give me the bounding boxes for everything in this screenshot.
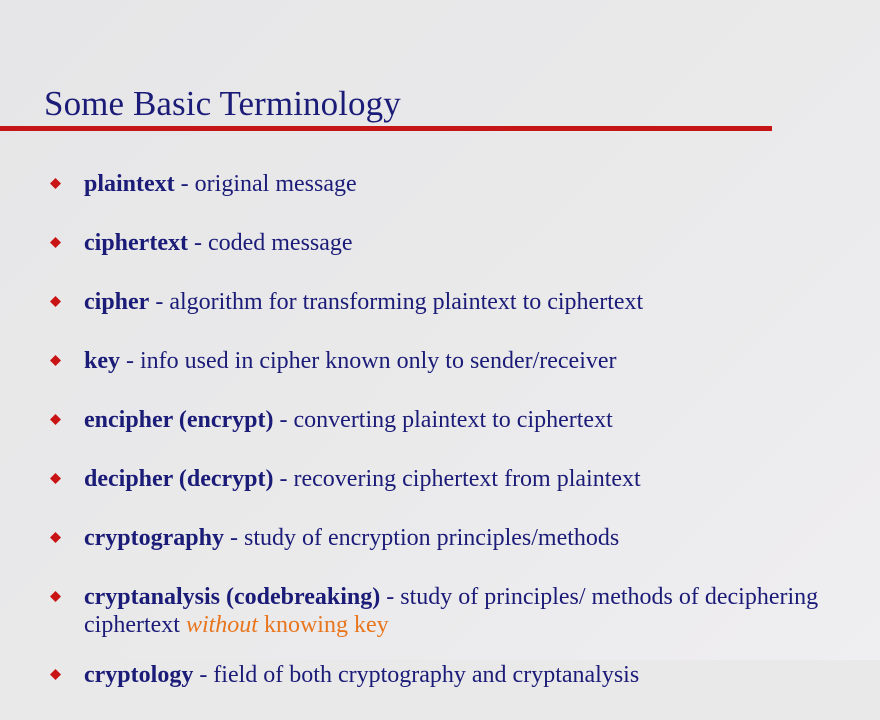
bullet-emphasis-italic: without: [186, 612, 258, 638]
diamond-bullet-icon: [50, 532, 61, 543]
list-item: key - info used in cipher known only to …: [0, 347, 880, 396]
bullet-text: cryptanalysis (codebreaking) - study of …: [84, 583, 880, 639]
list-item: plaintext - original message: [0, 170, 880, 219]
bullet-term: cryptography: [84, 525, 224, 551]
diamond-bullet-icon: [50, 237, 61, 248]
bullet-definition: - recovering ciphertext from plaintext: [274, 466, 641, 492]
bullet-definition: - study of encryption principles/methods: [224, 525, 619, 551]
bullet-definition: - info used in cipher known only to send…: [120, 348, 617, 374]
bullet-text: cryptography - study of encryption princ…: [84, 524, 880, 552]
slide-canvas: Some Basic Terminology plaintext - origi…: [0, 0, 880, 660]
list-item: decipher (decrypt) - recovering cipherte…: [0, 465, 880, 514]
bullet-term: plaintext: [84, 171, 175, 197]
diamond-bullet-icon: [50, 669, 61, 680]
title-divider-rule: [0, 126, 772, 131]
bullet-text: plaintext - original message: [84, 170, 880, 198]
bullet-term: cryptology: [84, 662, 193, 688]
terminology-bullet-list: plaintext - original message ciphertext …: [0, 170, 880, 720]
bullet-text: decipher (decrypt) - recovering cipherte…: [84, 465, 880, 493]
bullet-definition: - algorithm for transforming plaintext t…: [149, 289, 643, 315]
bullet-definition: - original message: [175, 171, 357, 197]
bullet-term: ciphertext: [84, 230, 188, 256]
diamond-bullet-icon: [50, 296, 61, 307]
list-item: encipher (encrypt) - converting plaintex…: [0, 406, 880, 455]
bullet-term: encipher (encrypt): [84, 407, 274, 433]
diamond-bullet-icon: [50, 414, 61, 425]
page-title: Some Basic Terminology: [44, 82, 401, 126]
list-item: cryptology - field of both cryptography …: [0, 661, 880, 710]
bullet-term: decipher (decrypt): [84, 466, 274, 492]
bullet-text: encipher (encrypt) - converting plaintex…: [84, 406, 880, 434]
diamond-bullet-icon: [50, 178, 61, 189]
bullet-text: cryptology - field of both cryptography …: [84, 661, 880, 689]
bullet-term: cryptanalysis (codebreaking): [84, 584, 380, 610]
list-item: cipher - algorithm for transforming plai…: [0, 288, 880, 337]
bullet-term: cipher: [84, 289, 149, 315]
list-item: cryptanalysis (codebreaking) - study of …: [0, 583, 880, 641]
bullet-definition: - converting plaintext to ciphertext: [274, 407, 613, 433]
list-item: cryptography - study of encryption princ…: [0, 524, 880, 573]
bullet-text: cipher - algorithm for transforming plai…: [84, 288, 880, 316]
diamond-bullet-icon: [50, 591, 61, 602]
bullet-term: key: [84, 348, 120, 374]
diamond-bullet-icon: [50, 355, 61, 366]
bullet-text: ciphertext - coded message: [84, 229, 880, 257]
bullet-emphasis-plain: knowing key: [258, 612, 389, 638]
bullet-text: key - info used in cipher known only to …: [84, 347, 880, 375]
list-item: ciphertext - coded message: [0, 229, 880, 278]
bullet-definition: - field of both cryptography and cryptan…: [193, 662, 639, 688]
diamond-bullet-icon: [50, 473, 61, 484]
bullet-definition: - coded message: [188, 230, 353, 256]
